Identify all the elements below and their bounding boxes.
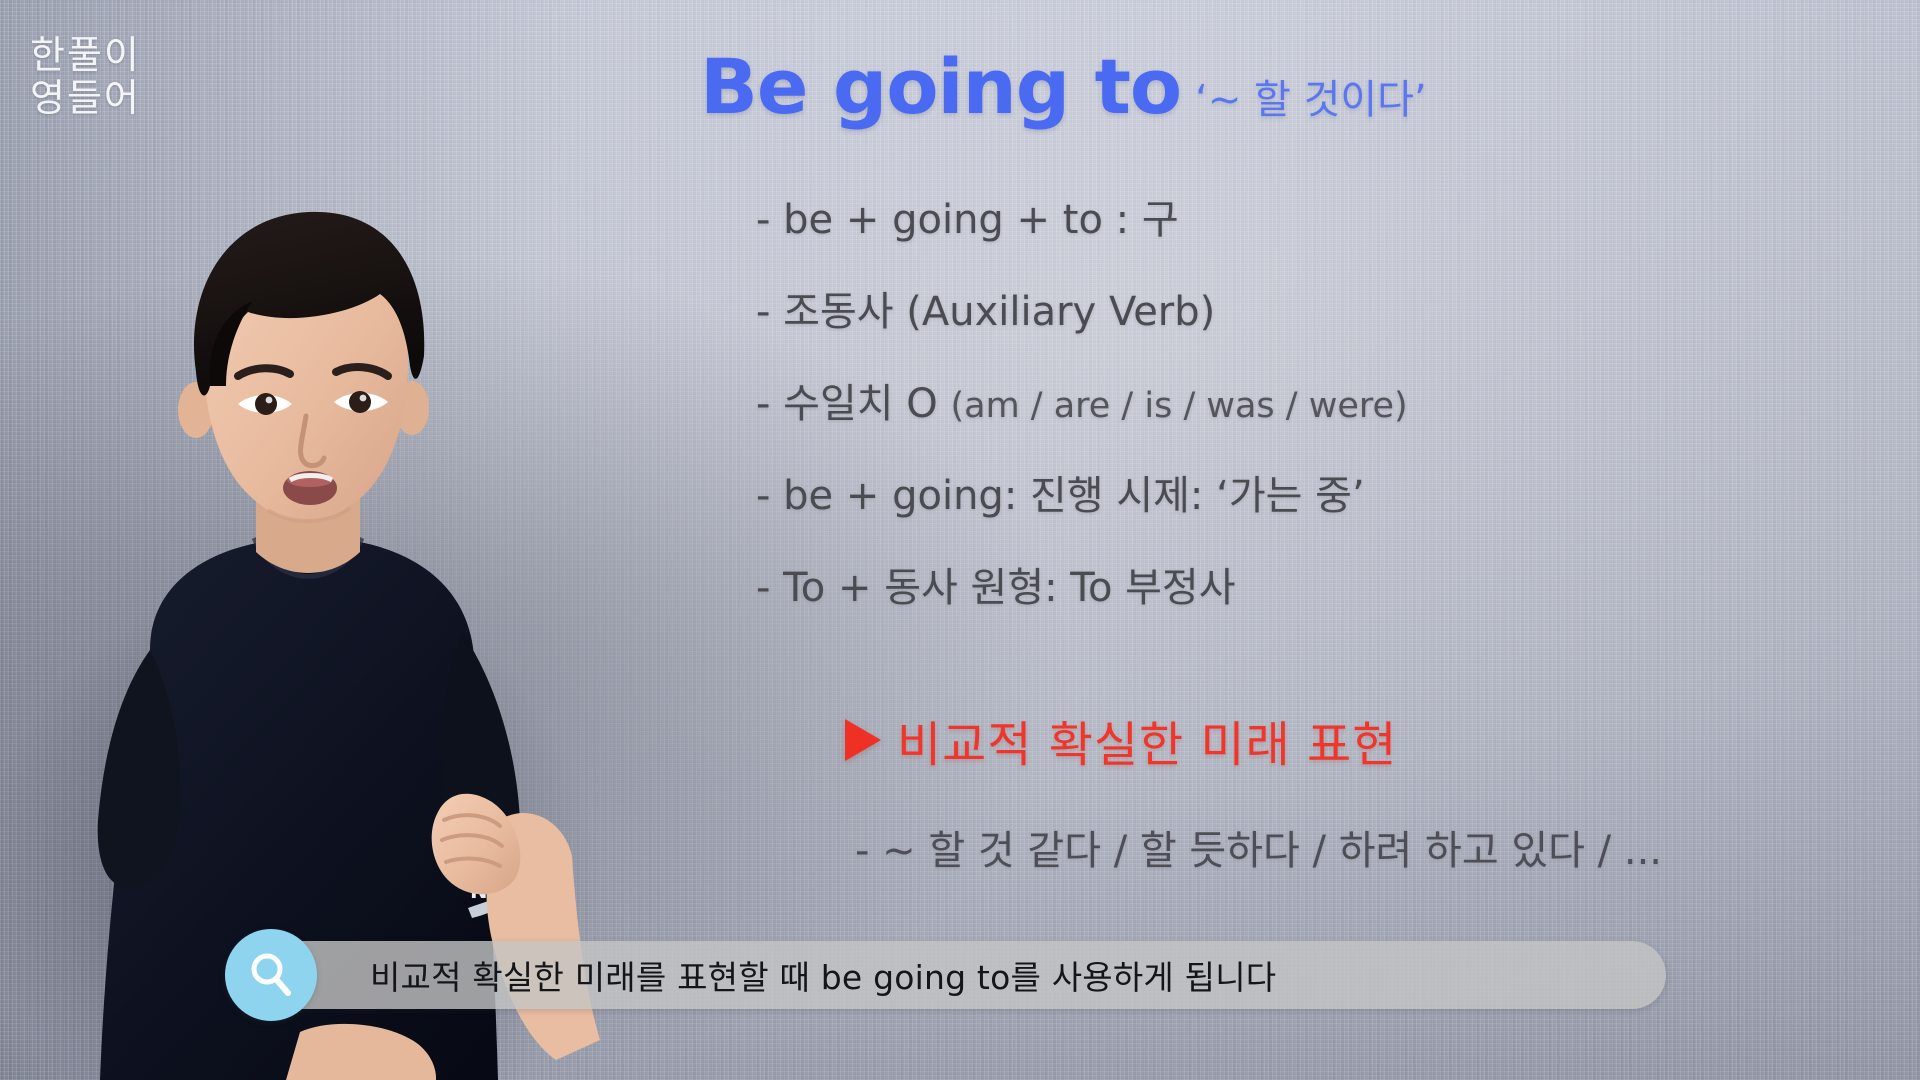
caption-text: 비교적 확실한 미래를 표현할 때 be going to를 사용하게 됩니다 — [370, 951, 1276, 999]
bullet-item-5: - To + 동사 원형: To 부정사 — [756, 568, 1408, 608]
highlight-text: 비교적 확실한 미래 표현 — [897, 705, 1397, 775]
title-main-text: Be going to — [700, 42, 1181, 131]
search-icon — [225, 929, 317, 1021]
bullet-item-3-detail: (am / are / is / was / were) — [950, 386, 1407, 426]
video-frame: 한풀이 영들어 — [0, 0, 1920, 1080]
bullet-item-4: - be + going: 진행 시제: ‘가는 중’ — [756, 476, 1408, 516]
bullet-item-1: - be + going + to : 구 — [756, 200, 1408, 240]
title-korean-gloss: ‘~ 할 것이다’ — [1195, 67, 1427, 125]
bullet-item-3-lead: - 수일치 O — [756, 381, 950, 427]
highlight-line: 비교적 확실한 미래 표현 — [845, 705, 1397, 775]
logo-line-2: 영들어 — [30, 77, 141, 120]
tail-note: - ~ 할 것 같다 / 할 듯하다 / 하려 하고 있다 / ... — [855, 818, 1662, 876]
logo-line-1: 한풀이 — [30, 34, 141, 77]
channel-logo-watermark: 한풀이 영들어 — [30, 34, 141, 120]
slide-title: Be going to ‘~ 할 것이다’ — [700, 42, 1427, 131]
bullet-item-3: - 수일치 O (am / are / is / was / were) — [756, 384, 1408, 424]
triangle-right-icon — [845, 719, 881, 761]
bullet-item-2: - 조동사 (Auxiliary Verb) — [756, 292, 1408, 332]
caption-bar: 비교적 확실한 미래를 표현할 때 be going to를 사용하게 됩니다 — [258, 941, 1666, 1009]
bullet-list: - be + going + to : 구 - 조동사 (Auxiliary V… — [756, 200, 1408, 660]
